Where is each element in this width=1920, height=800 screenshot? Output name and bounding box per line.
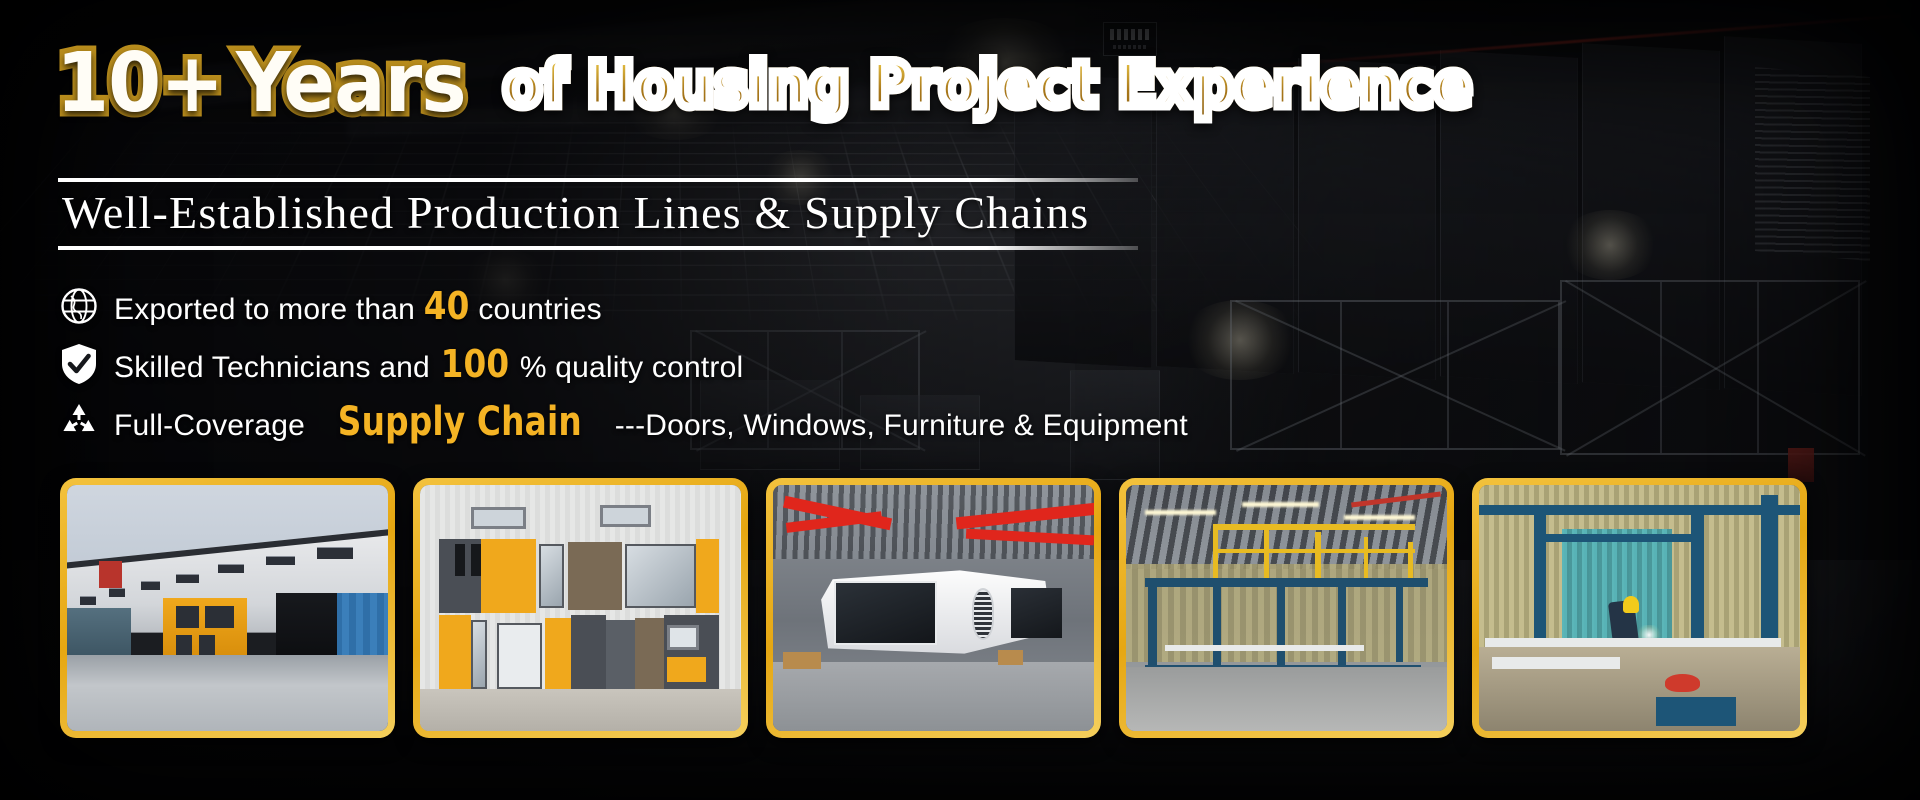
divider-top <box>58 178 1138 182</box>
feature-list: Exported to more than 40 countries Skill… <box>56 281 1188 455</box>
subtitle: Well-Established Production Lines & Supp… <box>62 186 1089 239</box>
feature-text-quality: Skilled Technicians and 100 % quality co… <box>114 342 743 386</box>
photo-card-welder[interactable] <box>1472 478 1807 738</box>
banner-content: 10+ Years of Housing Project Experience … <box>0 0 1920 800</box>
photo-production-line <box>1126 485 1447 731</box>
headline-gold-number: 10+ <box>56 36 223 131</box>
headline: 10+ Years of Housing Project Experience <box>56 36 1556 131</box>
photo-welder <box>1479 485 1800 731</box>
divider-bottom <box>58 246 1138 250</box>
globe-icon <box>56 283 102 329</box>
feature-text-after: countries <box>478 293 602 327</box>
headline-white-part: of Housing Project Experience <box>503 48 1472 121</box>
feature-text-after: % quality control <box>520 351 744 385</box>
feature-item-quality: Skilled Technicians and 100 % quality co… <box>56 339 1188 389</box>
recycle-icon <box>56 399 102 445</box>
feature-highlight-supply-chain: Supply Chain <box>333 399 587 445</box>
photo-card-capsule-cabin[interactable] <box>766 478 1101 738</box>
photo-card-modular-house[interactable] <box>413 478 748 738</box>
feature-highlight-40: 40 <box>419 284 473 328</box>
feature-text-after: ---Doors, Windows, Furniture & Equipment <box>615 409 1188 443</box>
feature-text-before: Skilled Technicians and <box>114 351 430 385</box>
banner-root: 10+ Years of Housing Project Experience … <box>0 0 1920 800</box>
photo-card-production-line[interactable] <box>1119 478 1454 738</box>
feature-item-supply-chain: Full-Coverage Supply Chain ---Doors, Win… <box>56 397 1188 447</box>
photo-modular-house <box>420 485 741 731</box>
photo-card-factory-exterior[interactable] <box>60 478 395 738</box>
feature-text-exported: Exported to more than 40 countries <box>114 284 602 328</box>
feature-highlight-100: 100 <box>436 342 513 386</box>
photo-factory-exterior <box>67 485 388 731</box>
feature-item-exported: Exported to more than 40 countries <box>56 281 1188 331</box>
feature-text-before: Full-Coverage <box>114 409 305 443</box>
feature-text-before: Exported to more than <box>114 293 415 327</box>
feature-text-supply-chain: Full-Coverage Supply Chain ---Doors, Win… <box>114 399 1188 445</box>
photo-capsule-cabin <box>773 485 1094 731</box>
headline-gold-years: Years <box>236 36 466 131</box>
photo-strip <box>60 478 1807 738</box>
shield-check-icon <box>56 341 102 387</box>
